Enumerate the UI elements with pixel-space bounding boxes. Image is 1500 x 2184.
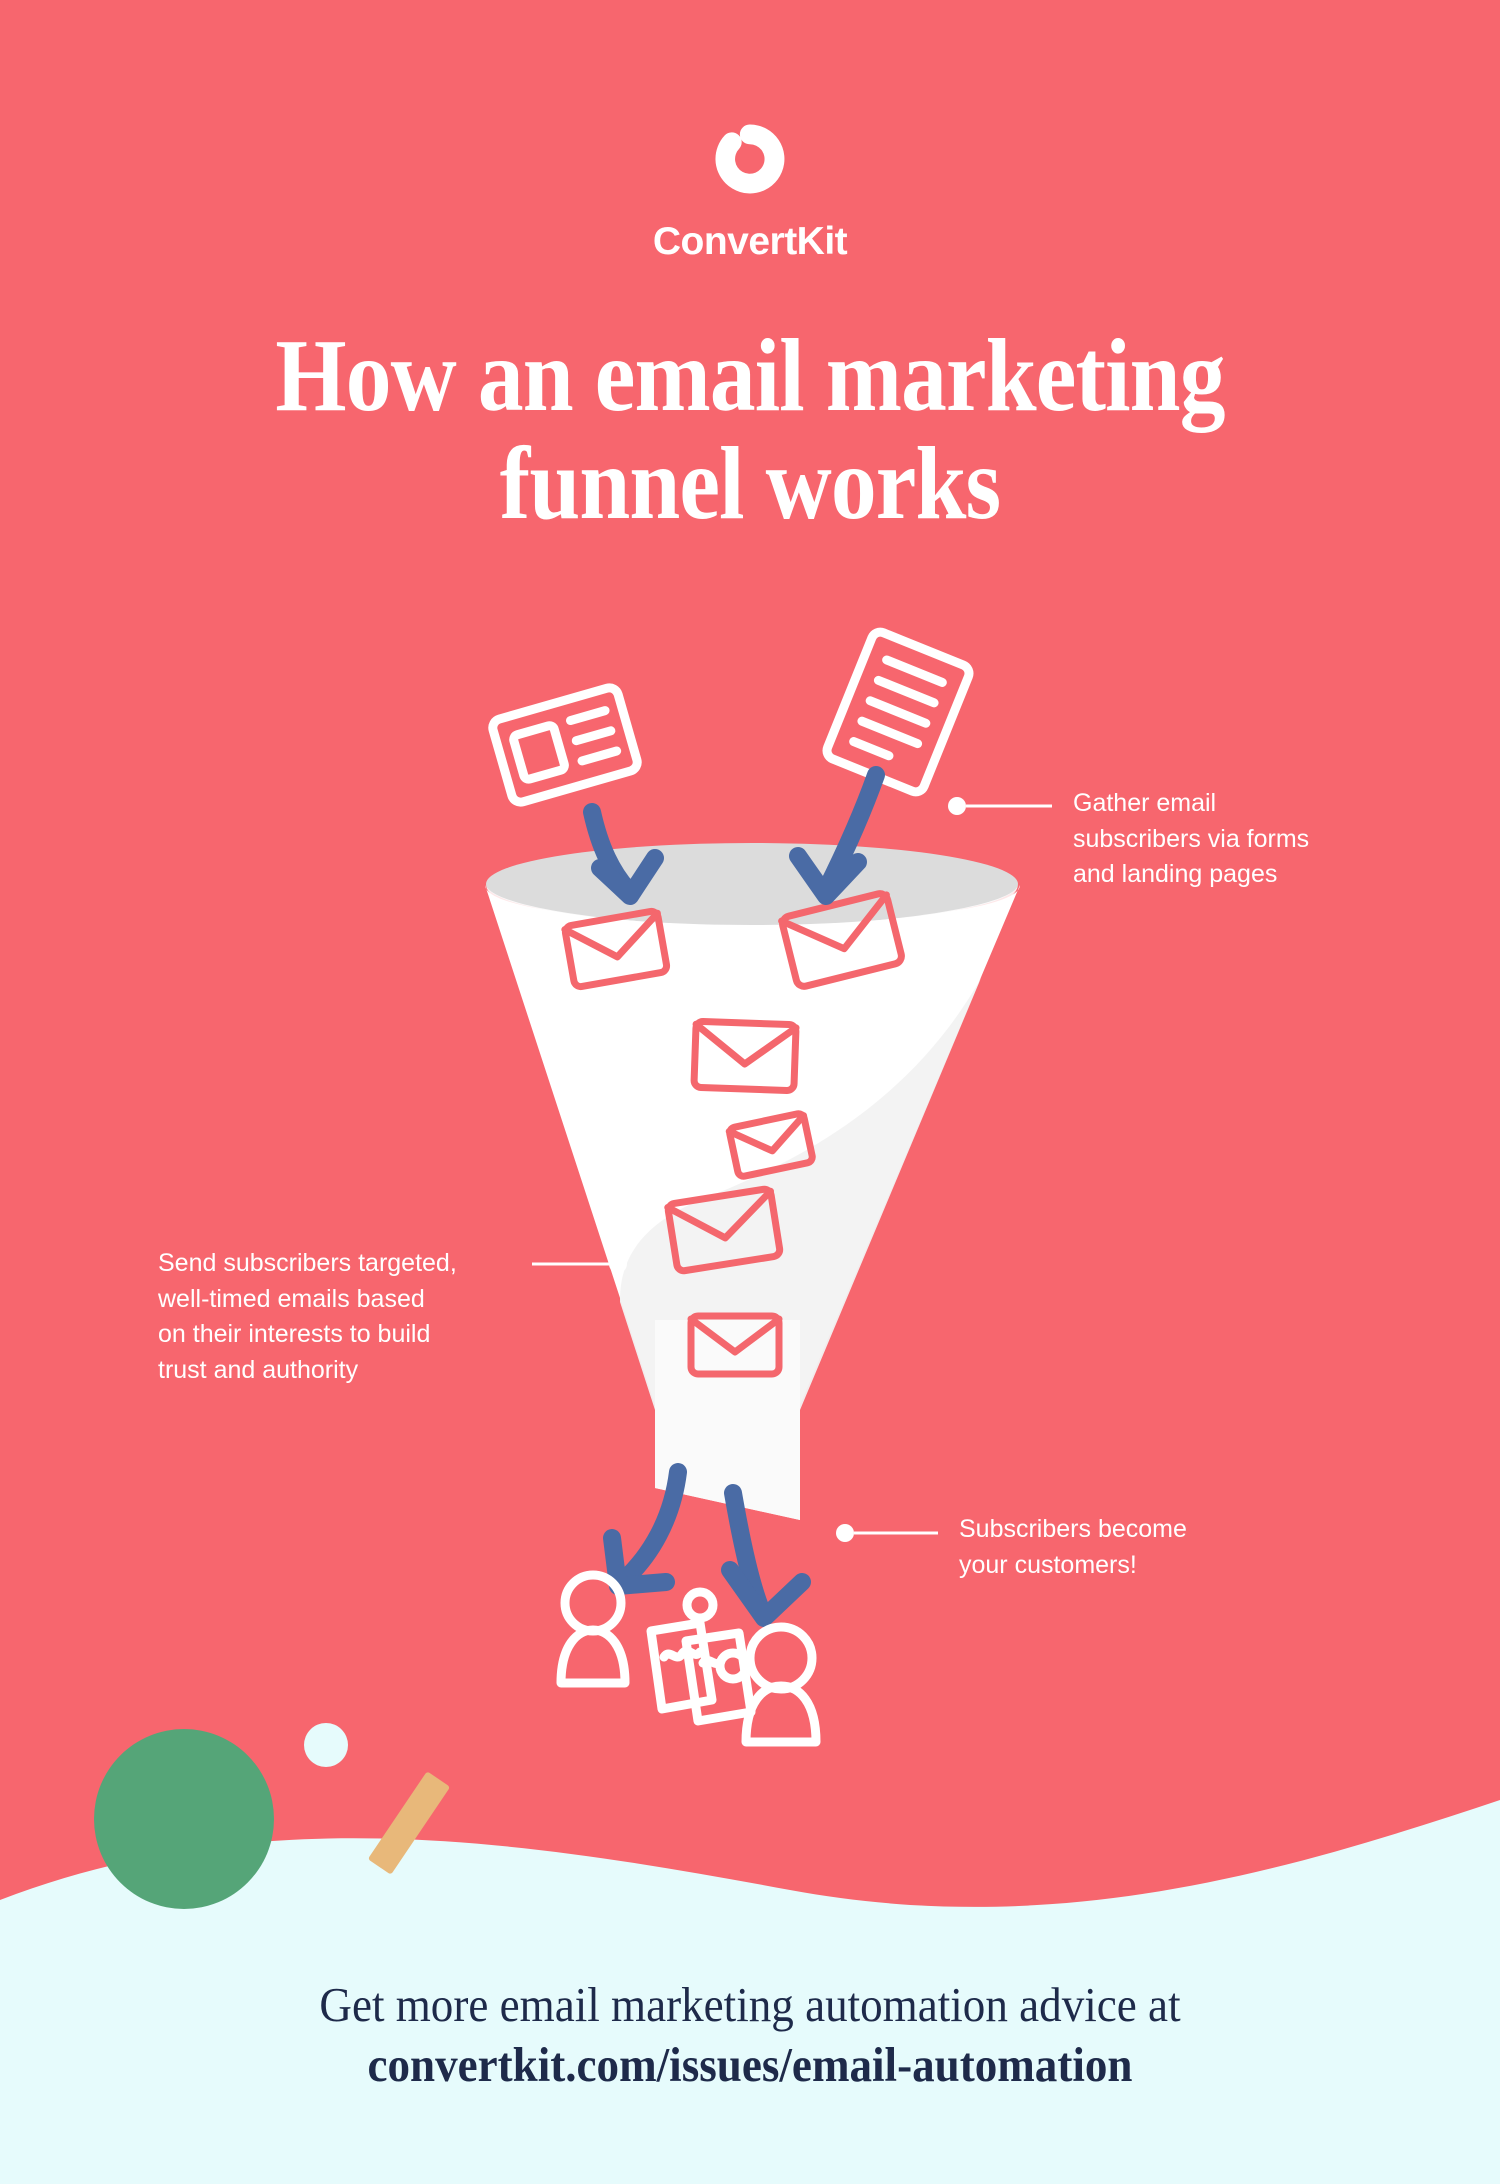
callout-nurture-subscribers: Send subscribers targeted, well-timed em… xyxy=(158,1246,518,1388)
footer-cta-text: Get more email marketing automation advi… xyxy=(60,1975,1440,2035)
brand-logo-block: ConvertKit xyxy=(0,118,1500,261)
footer-cta: Get more email marketing automation advi… xyxy=(60,1975,1440,2095)
page-title-line-1: How an email marketing xyxy=(90,322,1410,430)
page-title-line-2: funnel works xyxy=(90,430,1410,538)
callout-convert-subscribers: Subscribers become your customers! xyxy=(959,1512,1259,1583)
signup-form-icon xyxy=(491,686,640,805)
callout-connector-convert xyxy=(836,1524,938,1542)
callout-gather-subscribers: Gather email subscribers via forms and l… xyxy=(1073,786,1403,893)
landing-page-document-icon xyxy=(824,629,971,794)
customer-person-icon-left xyxy=(561,1575,625,1683)
footer-cta-url[interactable]: convertkit.com/issues/email-automation xyxy=(60,2035,1440,2095)
page-title: How an email marketing funnel works xyxy=(90,322,1410,538)
mint-dot-decoration xyxy=(304,1723,348,1767)
brand-name: ConvertKit xyxy=(653,222,847,261)
callout-connector-nurture xyxy=(532,1255,627,1273)
callout-connector-gather xyxy=(948,797,1052,815)
customer-person-icon-right xyxy=(746,1627,816,1742)
infographic-poster: ConvertKit How an email marketing funnel… xyxy=(0,0,1500,2184)
money-banknotes-icon xyxy=(651,1592,751,1721)
convertkit-ring-logo-icon xyxy=(709,118,791,200)
green-circle-decoration xyxy=(94,1729,274,1909)
outflow-arrow-left xyxy=(612,1472,678,1586)
